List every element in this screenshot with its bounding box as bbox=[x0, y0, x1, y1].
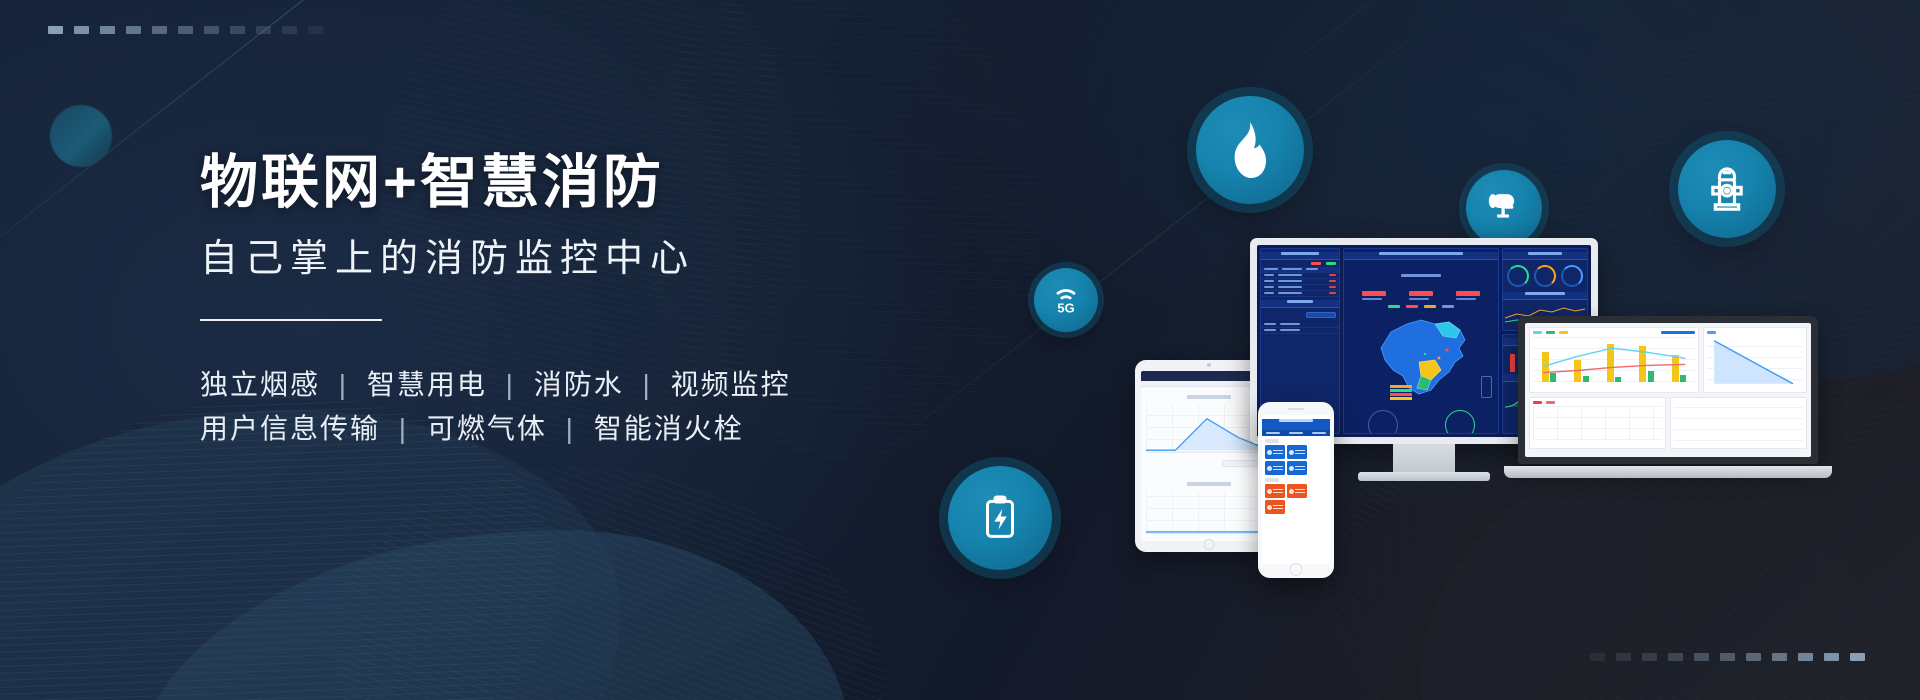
bg-wave-bottom-left bbox=[0, 410, 620, 700]
center-header bbox=[1344, 252, 1498, 260]
phone-tile[interactable] bbox=[1265, 500, 1285, 514]
feature-item: 智能消火栓 bbox=[594, 413, 744, 444]
phone-tile[interactable] bbox=[1287, 445, 1307, 459]
phone-tile[interactable] bbox=[1287, 484, 1307, 498]
gauge bbox=[1507, 265, 1529, 287]
bg-wave-bottom-left-2 bbox=[130, 530, 850, 700]
monitor-center-panel bbox=[1343, 248, 1499, 434]
dash bbox=[1616, 653, 1631, 661]
dash bbox=[1824, 653, 1839, 661]
dash bbox=[1642, 653, 1657, 661]
phone-tile[interactable] bbox=[1265, 484, 1285, 498]
kpi bbox=[1362, 291, 1386, 300]
laptop-base bbox=[1504, 466, 1832, 478]
battery-icon bbox=[948, 466, 1052, 570]
gauge-row bbox=[1503, 260, 1587, 290]
chart-legend bbox=[1533, 401, 1662, 404]
dash bbox=[100, 26, 115, 34]
decorative-circle bbox=[50, 105, 112, 167]
dash bbox=[1746, 653, 1761, 661]
gauge bbox=[1561, 265, 1583, 287]
feature-row-2: 用户信息传输 | 可燃气体 | 智能消火栓 bbox=[200, 407, 791, 450]
5g-icon: 5G bbox=[1034, 268, 1098, 332]
laptop-screen bbox=[1525, 323, 1811, 457]
camera-icon bbox=[1466, 170, 1542, 246]
phone-speaker bbox=[1288, 408, 1304, 410]
tablet-line-chart-2 bbox=[1146, 491, 1272, 533]
laptop-bar-chart-card bbox=[1529, 327, 1699, 393]
gauge bbox=[1534, 265, 1556, 287]
radar-green bbox=[1445, 410, 1475, 435]
dash bbox=[152, 26, 167, 34]
map-legend bbox=[1344, 303, 1498, 310]
phone-tile-group-blue bbox=[1262, 445, 1330, 475]
phone-mockup bbox=[1258, 402, 1334, 578]
dash bbox=[256, 26, 271, 34]
phone-tile[interactable] bbox=[1265, 445, 1285, 459]
page-subtitle: 自己掌上的消防监控中心 bbox=[200, 237, 791, 283]
feature-separator: | bbox=[497, 369, 524, 400]
contour-texture-b bbox=[295, 416, 926, 700]
feature-item: 可燃气体 bbox=[427, 413, 547, 444]
monitor-kpis bbox=[1344, 282, 1498, 303]
hydrant-icon bbox=[1678, 140, 1776, 238]
monitor-stand bbox=[1393, 444, 1455, 474]
tablet-home-button[interactable] bbox=[1204, 539, 1215, 550]
area-chart bbox=[1707, 336, 1803, 380]
chart-legend bbox=[1707, 331, 1803, 334]
divider bbox=[200, 319, 382, 321]
dash-decoration-top-left bbox=[48, 26, 323, 34]
dash bbox=[1668, 653, 1683, 661]
device-mockups bbox=[1120, 280, 1820, 580]
radar-gray bbox=[1368, 410, 1398, 435]
dash bbox=[308, 26, 323, 34]
feature-separator: | bbox=[557, 413, 584, 444]
dash bbox=[126, 26, 141, 34]
kpi bbox=[1456, 291, 1480, 300]
panel-header bbox=[1503, 292, 1587, 300]
tablet-chart-title bbox=[1187, 395, 1231, 399]
phone-tile-group-orange bbox=[1262, 484, 1330, 514]
tablet-chart-title-2 bbox=[1187, 482, 1231, 486]
feature-item: 独立烟感 bbox=[200, 369, 320, 400]
tablet-camera bbox=[1207, 363, 1211, 367]
phone-screen bbox=[1262, 415, 1330, 564]
panel-header bbox=[1503, 252, 1587, 260]
monitor-base bbox=[1358, 472, 1490, 481]
feature-separator: | bbox=[390, 413, 417, 444]
feature-item: 消防水 bbox=[534, 369, 624, 400]
monitor-radar-row bbox=[1344, 406, 1498, 435]
panel-header-2 bbox=[1261, 300, 1339, 308]
feature-item: 智慧用电 bbox=[367, 369, 487, 400]
dash bbox=[1590, 653, 1605, 661]
phone-section-label-2 bbox=[1265, 478, 1279, 482]
phone-tile[interactable] bbox=[1287, 461, 1307, 475]
dash bbox=[282, 26, 297, 34]
page-title: 物联网+智慧消防 bbox=[200, 150, 791, 217]
fire-icon bbox=[1196, 96, 1304, 204]
hero-banner: 物联网+智慧消防 自己掌上的消防监控中心 独立烟感 | 智慧用电 | 消防水 |… bbox=[0, 0, 1920, 700]
panel-header bbox=[1261, 252, 1339, 260]
dash bbox=[1694, 653, 1709, 661]
phone-appbar bbox=[1262, 419, 1330, 430]
dash bbox=[74, 26, 89, 34]
feature-separator: | bbox=[634, 369, 661, 400]
kpi bbox=[1409, 291, 1433, 300]
dash bbox=[204, 26, 219, 34]
hero-copy: 物联网+智慧消防 自己掌上的消防监控中心 独立烟感 | 智慧用电 | 消防水 |… bbox=[200, 150, 791, 450]
feature-separator: | bbox=[330, 369, 357, 400]
dash bbox=[1720, 653, 1735, 661]
laptop-mockup bbox=[1518, 316, 1818, 496]
phone-tile[interactable] bbox=[1265, 461, 1285, 475]
dash bbox=[1798, 653, 1813, 661]
dash bbox=[230, 26, 245, 34]
chart-tab-active[interactable] bbox=[1661, 331, 1695, 334]
laptop-area-chart-card bbox=[1703, 327, 1807, 393]
feature-row-1: 独立烟感 | 智慧用电 | 消防水 | 视频监控 bbox=[200, 363, 791, 406]
laptop-table-card bbox=[1529, 397, 1666, 449]
laptop-lid bbox=[1518, 316, 1818, 464]
svg-text:5G: 5G bbox=[1057, 301, 1074, 315]
dash bbox=[178, 26, 193, 34]
phone-section-label-1 bbox=[1265, 439, 1279, 443]
laptop-chart-card-4 bbox=[1670, 397, 1807, 449]
chart-legend bbox=[1533, 331, 1661, 334]
dash bbox=[1850, 653, 1865, 661]
dash bbox=[1772, 653, 1787, 661]
china-map bbox=[1344, 310, 1498, 406]
phone-segment-tabs[interactable] bbox=[1262, 430, 1330, 436]
dash bbox=[48, 26, 63, 34]
feature-item: 视频监控 bbox=[671, 369, 791, 400]
dash-decoration-bottom-right bbox=[1590, 653, 1865, 661]
bar-chart bbox=[1533, 336, 1695, 382]
feature-list: 独立烟感 | 智慧用电 | 消防水 | 视频监控 用户信息传输 | 可燃气体 |… bbox=[200, 363, 791, 450]
phone-home-button[interactable] bbox=[1290, 563, 1303, 576]
feature-item: 用户信息传输 bbox=[200, 413, 380, 444]
